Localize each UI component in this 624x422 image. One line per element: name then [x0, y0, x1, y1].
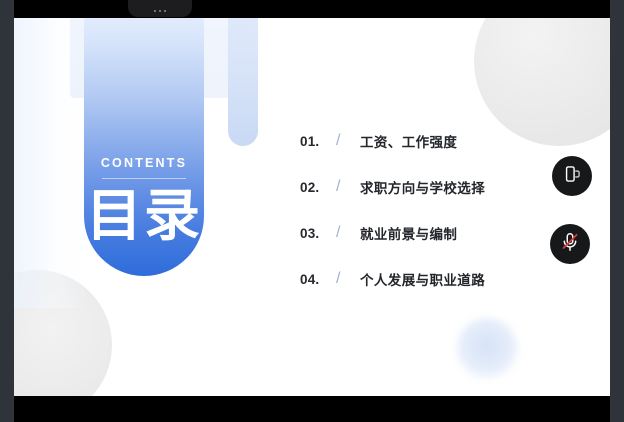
- agenda-number: 04.: [300, 272, 332, 287]
- agenda-number: 01.: [300, 134, 332, 149]
- agenda-list: 01. / 工资、工作强度 02. / 求职方向与学校选择 03. / 就业前景…: [300, 118, 550, 302]
- agenda-item-02: 02. / 求职方向与学校选择: [300, 164, 550, 210]
- device-screen: CONTENTS 目录 01. / 工资、工作强度 02. / 求职方向与学校选…: [0, 0, 624, 422]
- agenda-item-04: 04. / 个人发展与职业道路: [300, 256, 550, 302]
- agenda-number: 02.: [300, 180, 332, 195]
- mic-muted-icon: [559, 231, 581, 258]
- screen-share-button[interactable]: [552, 156, 592, 196]
- cover-eyebrow: CONTENTS: [84, 156, 204, 170]
- mic-mute-button[interactable]: [550, 224, 590, 264]
- agenda-separator: /: [332, 178, 360, 196]
- agenda-separator: /: [332, 270, 360, 288]
- agenda-item-01: 01. / 工资、工作强度: [300, 118, 550, 164]
- decorative-circle-bottom-left: [14, 270, 112, 396]
- cover-title: 目录: [84, 184, 204, 250]
- decorative-pale-pill: [228, 18, 258, 146]
- agenda-label: 个人发展与职业道路: [360, 269, 485, 289]
- agenda-label: 工资、工作强度: [360, 131, 457, 151]
- agenda-separator: /: [332, 224, 360, 242]
- screen-share-icon: [562, 164, 582, 189]
- decorative-blob-bottom-right: [456, 318, 518, 380]
- presentation-slide: CONTENTS 目录 01. / 工资、工作强度 02. / 求职方向与学校选…: [14, 18, 610, 396]
- agenda-label: 求职方向与学校选择: [360, 177, 485, 197]
- device-frame-right: [610, 0, 624, 422]
- agenda-item-03: 03. / 就业前景与编制: [300, 210, 550, 256]
- camera-notch: [128, 0, 192, 17]
- agenda-number: 03.: [300, 226, 332, 241]
- cover-divider: [102, 178, 186, 179]
- agenda-label: 就业前景与编制: [360, 223, 457, 243]
- agenda-separator: /: [332, 132, 360, 150]
- notch-dots: [154, 10, 167, 13]
- device-frame-left: [0, 0, 14, 422]
